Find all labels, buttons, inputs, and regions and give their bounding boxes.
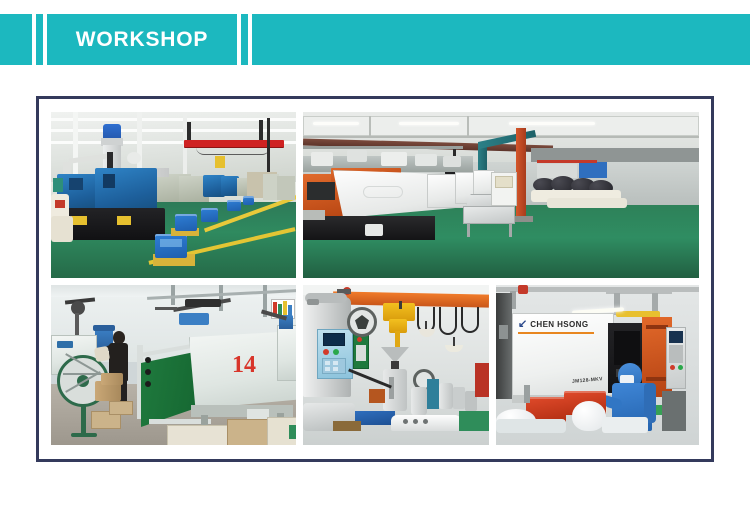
fan-base: [71, 433, 97, 437]
warning-label: [117, 216, 131, 225]
sack-mark: [55, 200, 65, 208]
work-bench: [496, 419, 566, 433]
foreground-crate: [167, 425, 233, 445]
photo-2[interactable]: [303, 112, 699, 278]
machine-right: [277, 325, 296, 381]
blue-crate: [227, 200, 241, 211]
wood-support: [369, 389, 385, 403]
panel-label: [356, 345, 366, 361]
machine-door-window: [69, 178, 83, 190]
dryer-cylinder: [411, 387, 427, 415]
chen-hsong-logo-mark: ↙: [518, 319, 527, 330]
cone-outlet: [391, 361, 399, 369]
machine-number-wrap: 14: [227, 347, 261, 383]
header-segment-left-thin: [36, 14, 43, 65]
blue-crate: [175, 214, 197, 231]
header-segment-right-fill: [252, 14, 750, 65]
header-segment-right-thin: [241, 14, 248, 65]
photo-5[interactable]: ↙ CHEN HSONG JM128-MKV: [496, 285, 699, 445]
panel-divider: [467, 116, 469, 136]
gallery-row-bottom: 14: [51, 285, 699, 445]
far-cabinet: [277, 176, 295, 200]
lamp-cord: [453, 337, 455, 346]
cardboard-box: [227, 419, 271, 445]
crane-hanger: [259, 120, 263, 140]
keypad-key: [333, 367, 338, 371]
fan-blade: [63, 373, 103, 375]
festoon-cable: [461, 307, 479, 333]
chart-bar: [283, 301, 287, 316]
overhead-conduit: [303, 146, 463, 149]
photo-4[interactable]: [303, 285, 489, 445]
far-robot-head: [415, 154, 437, 166]
photo-1-scene: [51, 112, 296, 278]
machine-knob: [403, 419, 408, 424]
control-box-teal: [427, 379, 439, 409]
panel-button-green: [333, 349, 339, 355]
robot-head: [185, 299, 221, 307]
dryer-cylinder: [453, 387, 465, 409]
steel-table: [463, 206, 515, 224]
chen-hsong-logo-text: CHEN HSONG: [530, 321, 588, 329]
panel-display: [323, 333, 345, 346]
cardboard-box: [109, 401, 133, 415]
rear-blue-panel: [579, 162, 607, 178]
machine-step: [303, 210, 325, 220]
machine-step: [247, 409, 269, 419]
crane-rail-post: [267, 118, 270, 172]
table-leg: [509, 223, 512, 237]
far-robot-head: [311, 152, 333, 166]
hoist-hook-shaft: [395, 331, 400, 347]
festoon-cable: [439, 307, 457, 335]
gallery-frame: 14: [36, 96, 714, 462]
photo-3[interactable]: 14: [51, 285, 296, 445]
robot-rail: [155, 307, 177, 310]
photo-5-scene: ↙ CHEN HSONG JM128-MKV: [496, 285, 699, 445]
panel-divider: [369, 116, 371, 136]
roof-column: [219, 285, 223, 311]
far-robot-head: [347, 150, 367, 162]
silo-fitting: [307, 299, 319, 305]
unit-seam: [646, 325, 668, 329]
machine-rear-post: [496, 293, 512, 399]
chen-hsong-logo: ↙ CHEN HSONG: [518, 319, 602, 330]
far-robot-head: [381, 152, 407, 166]
photo-2-scene: [303, 112, 699, 278]
mold-area: [614, 331, 640, 365]
conveyor-roller: [145, 369, 151, 375]
keypad-key: [325, 361, 330, 365]
bench-post: [524, 385, 530, 403]
cabinet-button-red: [670, 365, 675, 370]
hoist-chain: [399, 301, 402, 309]
wall-sign: [215, 156, 225, 168]
side-unit: [53, 178, 63, 192]
machine-panel: [103, 174, 115, 188]
gallery-grid: 14: [51, 112, 699, 445]
machine-number-label: 14: [232, 353, 256, 377]
light-tube: [313, 122, 359, 125]
robot-actuator: [179, 313, 209, 325]
foreground-wood: [333, 421, 361, 431]
red-wall-panel: [475, 363, 489, 397]
robot-post: [75, 313, 79, 335]
conveyor-roller: [145, 357, 151, 363]
post-fitting: [499, 325, 508, 339]
machine-window: [307, 182, 335, 200]
photo-4-scene: [303, 285, 489, 445]
panel-button-red: [323, 349, 329, 355]
rear-red-stripe: [537, 160, 597, 163]
material-drum: [101, 373, 123, 385]
mixer-cylinder: [383, 369, 407, 411]
photo-1[interactable]: [51, 112, 296, 278]
ceiling-panel: [303, 116, 699, 136]
cover-emboss: [363, 186, 403, 198]
keypad-key: [333, 361, 338, 365]
cabinet-keypad: [669, 345, 683, 363]
blue-crate: [243, 196, 254, 205]
panel-button-red: [357, 337, 362, 342]
page-title: WORKSHOP: [76, 29, 208, 50]
side-equipment: [662, 391, 686, 431]
photo-3-scene: 14: [51, 285, 296, 445]
hopper-lid: [93, 325, 115, 331]
plastic-product-bag: [572, 401, 606, 431]
green-marker: [289, 425, 296, 439]
light-tube: [509, 122, 595, 125]
material-sack: [51, 216, 73, 242]
conveyor-roller: [145, 381, 151, 387]
foreground-machine-green: [459, 411, 489, 431]
page-root: WORKSHOP: [0, 0, 750, 509]
gallery-row-top: [51, 112, 699, 278]
logo-area: ↙ CHEN HSONG: [518, 319, 602, 335]
wall-fan: [127, 152, 141, 164]
logo-underline: [518, 332, 594, 334]
dryer-cylinder: [439, 383, 453, 409]
light-tube: [399, 122, 459, 125]
header-segment-left-wide: [0, 14, 32, 65]
crane-chain: [196, 147, 270, 155]
cabinet-notice: [495, 176, 513, 188]
machine-knob: [413, 419, 418, 424]
warning-label: [71, 216, 87, 225]
orange-column: [516, 128, 526, 222]
machine-logo-plate: [57, 341, 73, 348]
fan-pole: [81, 405, 86, 435]
blue-crate: [201, 208, 218, 222]
far-robot-head: [443, 156, 461, 167]
crate-highlight: [160, 239, 182, 247]
section-header: WORKSHOP: [0, 14, 750, 65]
header-title-block: WORKSHOP: [47, 14, 237, 65]
table-leg: [467, 223, 470, 237]
ceiling-column: [73, 112, 78, 174]
cabinet-display: [669, 331, 683, 343]
base-box: [365, 224, 383, 236]
unit-seam: [646, 377, 668, 381]
machine-knob: [423, 419, 428, 424]
material-sacks: [547, 198, 627, 208]
warning-beacon: [518, 285, 528, 294]
work-surface: [602, 417, 648, 433]
work-item: [94, 346, 110, 362]
keypad-key: [325, 367, 330, 371]
cabinet-button-green: [678, 365, 683, 370]
